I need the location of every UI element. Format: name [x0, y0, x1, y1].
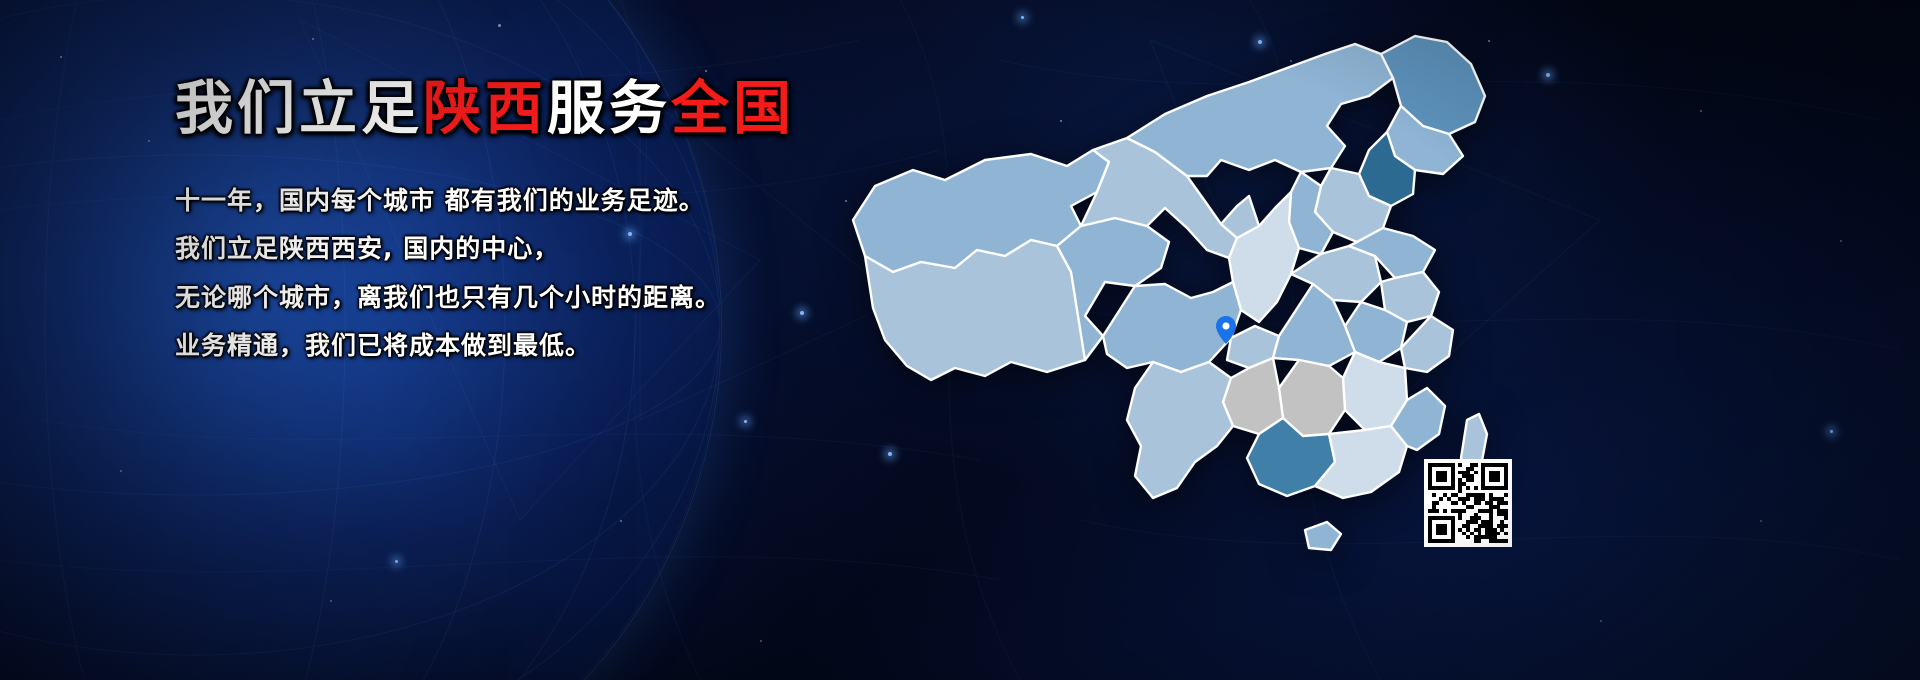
headline-part-2-accent: 陕西 [423, 74, 547, 142]
province-hainan [1305, 522, 1341, 550]
headline-part-1: 我们立足 [175, 74, 423, 142]
province-zhejiang [1401, 316, 1453, 372]
headline-part-4-accent: 全国 [671, 74, 795, 142]
body-line-4: 业务精通，我们已将成本做到最低。 [175, 328, 935, 364]
qr-code[interactable] [1424, 459, 1512, 547]
body-text: 十一年，国内每个城市 都有我们的业务足迹。 我们立足陕西西安, 国内的中心， 无… [175, 183, 935, 364]
body-line-2: 我们立足陕西西安, 国内的中心， [175, 231, 935, 267]
xian-location-pin[interactable] [1216, 316, 1236, 344]
page-title: 我们立足陕西服务全国 [175, 78, 935, 139]
headline-part-3: 服务 [547, 74, 671, 142]
province-nei-mongol [1127, 44, 1393, 176]
province-yunnan [1127, 362, 1233, 498]
copy-block: 我们立足陕西服务全国 十一年，国内每个城市 都有我们的业务足迹。 我们立足陕西西… [175, 78, 935, 377]
body-line-3: 无论哪个城市，离我们也只有几个小时的距离。 [175, 280, 935, 316]
banner-stage: 我们立足陕西服务全国 十一年，国内每个城市 都有我们的业务足迹。 我们立足陕西西… [0, 0, 1920, 680]
body-line-1: 十一年，国内每个城市 都有我们的业务足迹。 [175, 183, 935, 219]
qr-code-grid [1428, 463, 1508, 543]
